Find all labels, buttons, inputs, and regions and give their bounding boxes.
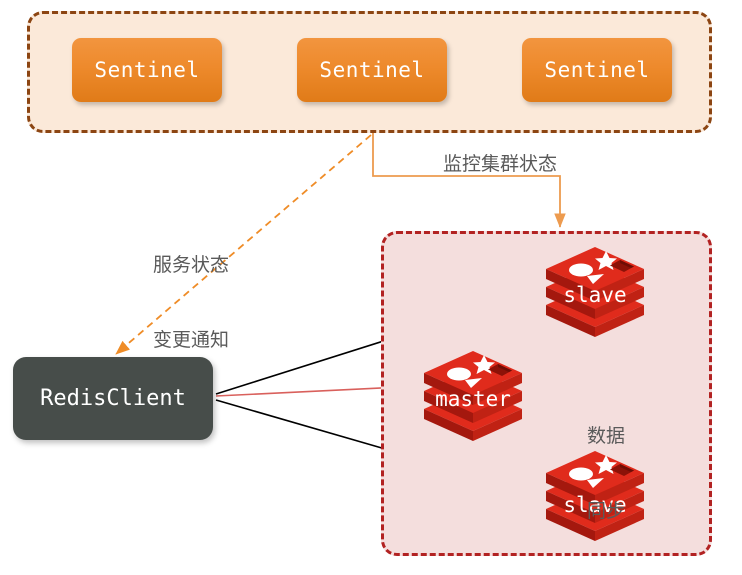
annotation-service-status-change: 服务状态 变更通知 <box>153 203 229 403</box>
sentinel-node-2[interactable]: Sentinel <box>297 38 447 102</box>
redis-node-master[interactable]: master <box>418 347 528 447</box>
annotation-sync-line1: 数据 <box>587 424 625 449</box>
annotation-monitor-cluster-status: 监控集群状态 <box>443 152 557 177</box>
annotation-notify-line1: 服务状态 <box>153 253 229 278</box>
annotation-sync-line2: 同步 <box>587 499 625 524</box>
diagram-canvas: Sentinel Sentinel Sentinel RedisClient <box>0 0 742 575</box>
annotation-notify-line2: 变更通知 <box>153 328 229 353</box>
redis-logo-icon <box>540 243 650 343</box>
sentinel-node-3[interactable]: Sentinel <box>522 38 672 102</box>
sentinel-node-2-label: Sentinel <box>319 58 424 82</box>
edge-sentinel-to-cluster <box>373 133 560 227</box>
annotation-data-sync: 数据 同步 <box>587 374 625 574</box>
redis-node-slave-top[interactable]: slave <box>540 243 650 343</box>
redis-logo-icon <box>418 347 528 447</box>
sentinel-node-3-label: Sentinel <box>544 58 649 82</box>
sentinel-node-1-label: Sentinel <box>94 58 199 82</box>
sentinel-node-1[interactable]: Sentinel <box>72 38 222 102</box>
